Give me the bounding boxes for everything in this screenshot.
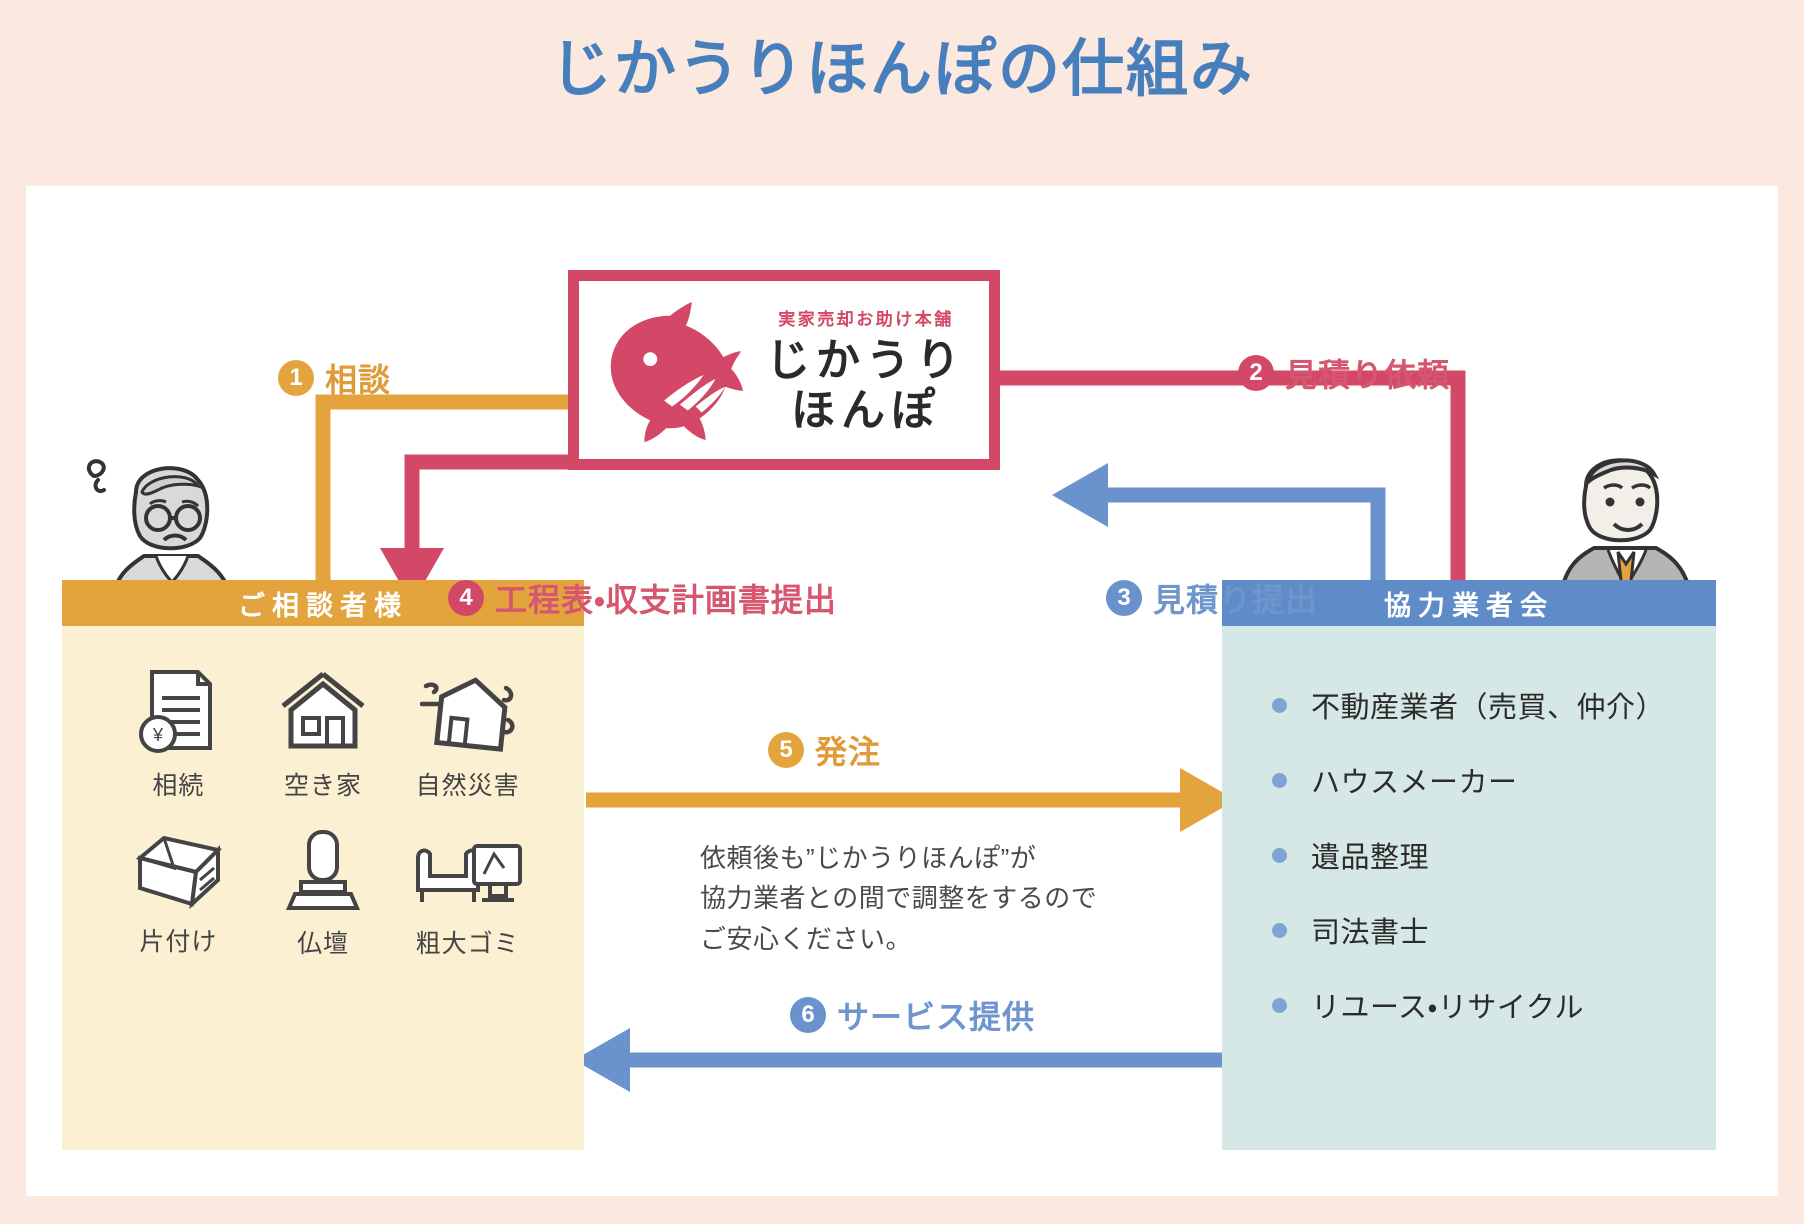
icon-label: 空き家	[284, 766, 362, 802]
partner-box: 協力業者会 不動産業者（売買、仲介） ハウスメーカー 遺品整理 司法書士	[1222, 580, 1716, 1150]
step-number: 6	[790, 997, 826, 1033]
svg-text:¥: ¥	[152, 725, 164, 745]
step-label-6: 6 サービス提供	[790, 992, 1035, 1038]
client-issue-altar[interactable]: 仏壇	[251, 824, 396, 960]
list-item-label: ハウスメーカー	[1311, 759, 1518, 801]
step-label-1: 1 相談	[278, 355, 391, 401]
logo-text-block: 実家売却お助け本舗 じかうり ほんぽ	[751, 305, 975, 435]
client-issue-disaster[interactable]: 自然災害	[395, 664, 540, 802]
bullet-icon	[1272, 923, 1287, 938]
pig-bank-icon	[593, 295, 751, 445]
client-issue-bulky-waste[interactable]: 粗大ゴミ	[395, 824, 540, 960]
worried-elderly-person-icon	[72, 440, 272, 600]
step-number: 2	[1238, 355, 1274, 391]
logo-name-line1: じかうり	[757, 336, 975, 385]
icon-label: 仏壇	[297, 924, 349, 960]
list-item[interactable]: 司法書士	[1272, 909, 1716, 951]
cardboard-box-icon	[130, 824, 226, 912]
icon-label: 相続	[152, 766, 204, 802]
step-text: 見積り提出	[1153, 575, 1318, 621]
logo-name-line2: ほんぽ	[757, 386, 975, 435]
center-note-line2: 協力業者との間で調整をするので	[700, 878, 1120, 918]
center-note-line1: 依頼後も”じかうりほんぽ”が	[700, 838, 1120, 878]
center-note-line3: ご安心ください。	[700, 919, 1120, 959]
client-box-body: ¥ 相続 空き家	[62, 626, 584, 1150]
businessman-icon	[1530, 430, 1720, 600]
bullet-icon	[1272, 773, 1287, 788]
step-text: 工程表・収支計画書提出	[495, 575, 837, 621]
list-item[interactable]: リユース・リサイクル	[1272, 984, 1716, 1026]
step-label-3: 3 見積り提出	[1106, 575, 1318, 621]
step-number: 4	[448, 580, 484, 616]
step-label-5: 5 発注	[768, 727, 881, 773]
list-item-label: 遺品整理	[1311, 834, 1429, 876]
list-item-label: リユース・リサイクル	[1311, 984, 1584, 1026]
bulky-waste-icon	[412, 824, 524, 914]
icon-label: 粗大ゴミ	[416, 924, 520, 960]
step-number: 3	[1106, 580, 1142, 616]
client-issue-cleanup[interactable]: 片付け	[106, 824, 251, 960]
bullet-icon	[1272, 848, 1287, 863]
step-text: 見積り依頼	[1285, 350, 1450, 396]
brand-logo-box: 実家売却お助け本舗 じかうり ほんぽ	[568, 270, 1000, 470]
natural-disaster-house-icon	[420, 664, 516, 756]
step-text: 相談	[325, 355, 391, 401]
list-item-label: 司法書士	[1311, 909, 1429, 951]
diagram-root: じかうりほんぽの仕組み	[0, 0, 1804, 1224]
client-issue-inheritance[interactable]: ¥ 相続	[106, 664, 251, 802]
list-item[interactable]: ハウスメーカー	[1272, 759, 1716, 801]
icon-label: 自然災害	[416, 766, 520, 802]
page-title: じかうりほんぽの仕組み	[0, 36, 1804, 104]
list-item[interactable]: 不動産業者（売買、仲介）	[1272, 684, 1716, 726]
step-label-4: 4 工程表・収支計画書提出	[448, 575, 837, 621]
list-item-label: 不動産業者（売買、仲介）	[1311, 684, 1665, 726]
step-text: サービス提供	[837, 992, 1035, 1038]
icon-label: 片付け	[139, 922, 217, 958]
client-box: ご相談者様 ¥ 相続	[62, 580, 584, 1150]
step-label-2: 2 見積り依頼	[1238, 350, 1450, 396]
client-issue-vacant-house[interactable]: 空き家	[251, 664, 396, 802]
inheritance-document-icon: ¥	[136, 664, 220, 756]
center-note: 依頼後も”じかうりほんぽ”が 協力業者との間で調整をするので ご安心ください。	[700, 838, 1120, 959]
logo-tagline: 実家売却お助け本舗	[757, 305, 975, 330]
step-number: 5	[768, 732, 804, 768]
bullet-icon	[1272, 698, 1287, 713]
vacant-house-icon	[277, 664, 369, 756]
list-item[interactable]: 遺品整理	[1272, 834, 1716, 876]
step-number: 1	[278, 360, 314, 396]
bullet-icon	[1272, 998, 1287, 1013]
client-issue-grid: ¥ 相続 空き家	[80, 648, 566, 960]
partner-box-body: 不動産業者（売買、仲介） ハウスメーカー 遺品整理 司法書士 リユース・リサイク…	[1222, 626, 1716, 1150]
step-text: 発注	[815, 727, 881, 773]
buddhist-altar-icon	[285, 824, 361, 914]
partner-list: 不動産業者（売買、仲介） ハウスメーカー 遺品整理 司法書士 リユース・リサイク…	[1272, 684, 1716, 1026]
